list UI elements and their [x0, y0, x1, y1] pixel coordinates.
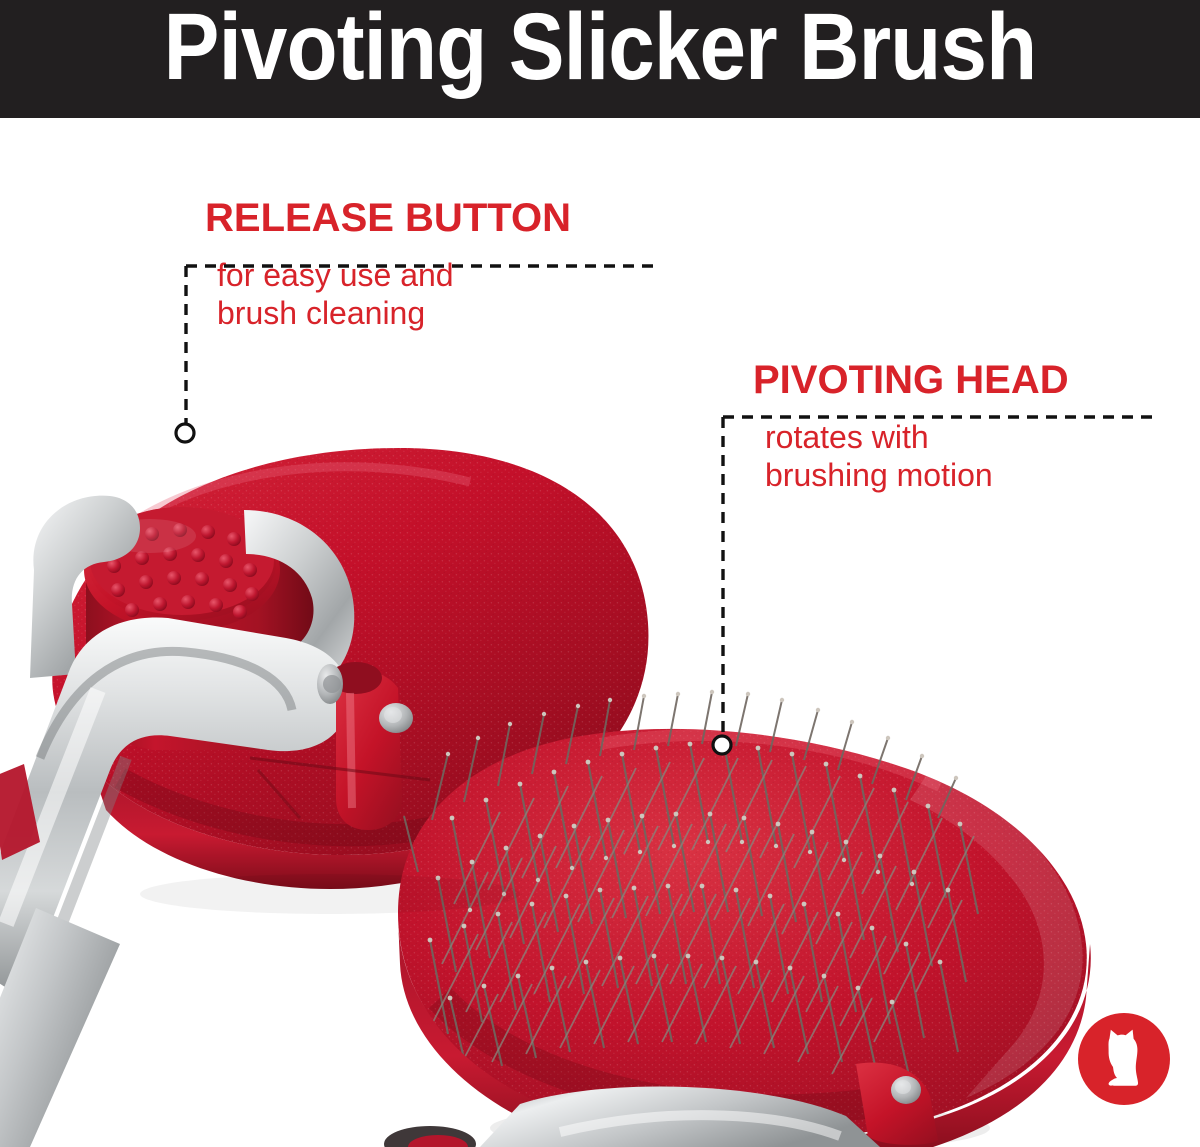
pivot-bracket-body	[336, 670, 402, 830]
page-title: Pivoting Slicker Brush	[72, 0, 1128, 106]
brand-logo	[1077, 1012, 1171, 1106]
header-bar: Pivoting Slicker Brush	[0, 0, 1200, 118]
infographic-canvas: Pivoting Slicker Brush	[0, 0, 1200, 1147]
callout-release-button: RELEASE BUTTON for easy use and brush cl…	[205, 196, 571, 332]
product-photo	[0, 118, 1200, 1147]
callout-pivoting-head-body: rotates with brushing motion	[753, 402, 1069, 494]
callout-release-button-title: RELEASE BUTTON	[205, 196, 571, 240]
callout-release-button-body: for easy use and brush cleaning	[205, 240, 571, 332]
callout-pivoting-head-title: PIVOTING HEAD	[753, 358, 1069, 402]
callout-pivoting-head: PIVOTING HEAD rotates with brushing moti…	[753, 358, 1069, 494]
